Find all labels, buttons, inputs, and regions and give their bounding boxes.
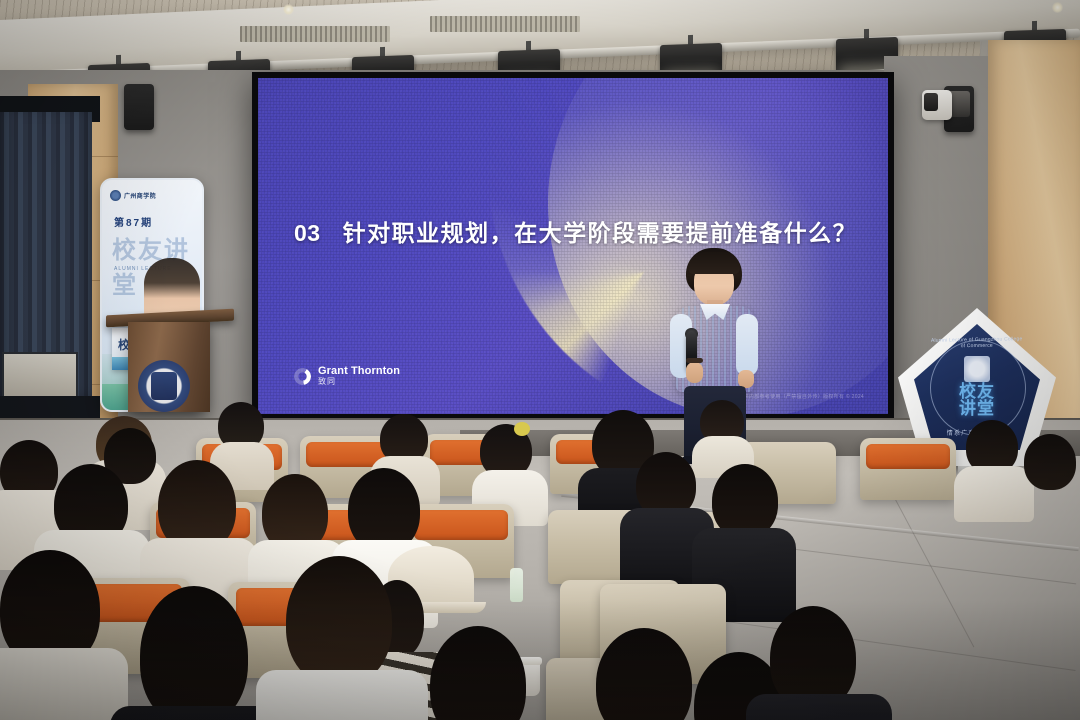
audience-body xyxy=(954,466,1034,522)
presenter-left-hand xyxy=(686,362,703,383)
ceiling-vent xyxy=(240,26,390,42)
banner-school-name: 广州商学院 xyxy=(124,191,156,200)
slide-question: 针对职业规划，在大学阶段需要提前准备什么？ xyxy=(343,214,858,248)
audience-head xyxy=(286,556,392,686)
presenter-wristband xyxy=(686,358,703,363)
grant-thornton-icon xyxy=(294,368,311,385)
wall-speaker-left xyxy=(124,84,154,130)
audience-hair-bun xyxy=(514,422,530,436)
water-bottle[interactable] xyxy=(510,568,523,602)
brand-name-en: Grant Thornton xyxy=(318,366,400,378)
audience-head xyxy=(712,464,778,538)
presenter-fringe xyxy=(688,252,740,274)
school-crest-icon xyxy=(110,190,121,201)
audience-body xyxy=(0,648,128,720)
seat[interactable] xyxy=(860,438,956,500)
slide-title-row: 03 针对职业规划，在大学阶段需要提前准备什么？ xyxy=(294,214,857,248)
slide-number: 03 xyxy=(294,220,321,247)
lecture-hall-photo: 03 针对职业规划，在大学阶段需要提前准备什么？ Grant Thornton … xyxy=(0,0,1080,720)
audience-body xyxy=(110,706,280,720)
audience-head xyxy=(430,626,526,720)
emblem-crest-icon xyxy=(964,356,990,382)
wall-camera xyxy=(922,90,952,120)
ceiling-downlight xyxy=(1052,2,1063,13)
audience-head xyxy=(1024,434,1076,490)
slide-brand-logo: Grant Thornton 致同 xyxy=(294,366,400,386)
banner-school-row: 广州商学院 xyxy=(110,190,156,201)
audience-head xyxy=(140,586,248,720)
brand-name-cn: 致同 xyxy=(318,378,400,386)
presenter-right-arm xyxy=(736,314,758,376)
ceiling-vent xyxy=(430,16,580,32)
audience-body xyxy=(746,694,892,720)
ceiling-downlight xyxy=(283,4,294,15)
audience-area xyxy=(0,400,1080,720)
banner-issue-number: 第87期 xyxy=(114,214,153,229)
audience-body xyxy=(256,670,428,720)
presentation-screen[interactable]: 03 针对职业规划，在大学阶段需要提前准备什么？ Grant Thornton … xyxy=(258,78,888,414)
window-pane xyxy=(2,352,78,402)
